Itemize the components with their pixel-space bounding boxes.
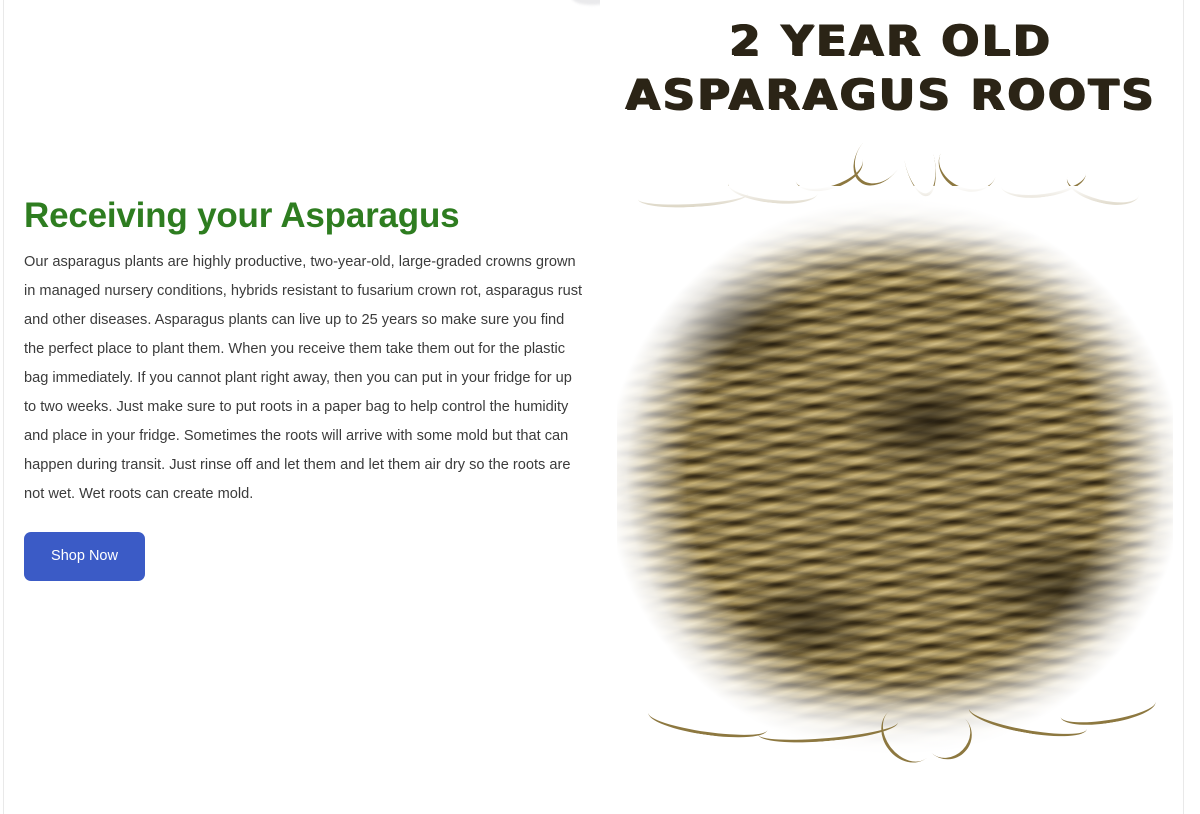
root-tendril: [896, 116, 942, 200]
text-column: Receiving your Asparagus Our asparagus p…: [24, 193, 586, 581]
asparagus-roots-photo: [608, 112, 1178, 760]
page-right-border: [1183, 0, 1184, 814]
body-paragraph: Our asparagus plants are highly producti…: [24, 248, 586, 509]
root-tendril: [930, 130, 1006, 201]
page-root: Receiving your Asparagus Our asparagus p…: [0, 0, 1200, 814]
shop-now-button[interactable]: Shop Now: [24, 532, 145, 581]
product-photo-panel: 2 YEAR OLD ASPARAGUS ROOTS: [600, 0, 1182, 814]
root-mass: [617, 198, 1173, 756]
root-shadow-layer: [617, 198, 1173, 756]
page-title: Receiving your Asparagus: [24, 193, 586, 239]
photo-overlay-title: 2 YEAR OLD ASPARAGUS ROOTS: [600, 14, 1182, 122]
page-left-border: [3, 0, 4, 814]
